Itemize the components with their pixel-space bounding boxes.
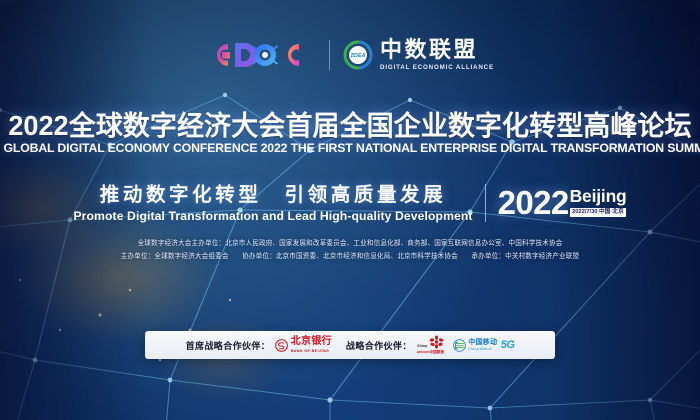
five-g-badge: 5G (501, 340, 515, 351)
main-title-chinese: 2022全球数字经济大会首届全国企业数字化转型高峰论坛 (5, 103, 695, 143)
credit-line-organizers: 主办单位：全球数字经济大会组委会 协办单位：北京市国资委、北京市经济和信息化局、… (0, 251, 700, 264)
strategic-partner-label: 战略合作伙伴： (346, 339, 412, 352)
alliance-text-block: 中数联盟 DIGITAL ECONOMIC ALLIANCE (380, 39, 494, 71)
slogan-text-block: 推动数字化转型 引领高质量发展 Promote Digital Transfor… (73, 183, 472, 222)
chief-partner-label: 首席战略合作伙伴： (186, 339, 271, 352)
zdea-circular-mark: ZDEA (343, 40, 373, 70)
strategic-partner-group: 战略合作伙伴： China (346, 335, 514, 355)
slogan-row: 推动数字化转型 引领高质量发展 Promote Digital Transfor… (0, 180, 700, 226)
organizer-credits: 全球数字经济大会主办单位：北京市人民政府、国家发展和改革委员会、工业和信息化部、… (0, 238, 700, 264)
china-unicom-icon (429, 335, 444, 349)
strategic-partner-logos: China (417, 335, 515, 355)
partner-bar: 首席战略合作伙伴： 北京银行 BANK OF BEIJING 战略合作伙伴： (145, 331, 555, 359)
city-date-block: Beijing 2022/7/30 中国·北京 (570, 188, 627, 218)
alliance-name-cn: 中数联盟 (380, 39, 478, 62)
cdec-logo (206, 37, 316, 73)
alliance-name-en: DIGITAL ECONOMIC ALLIANCE (380, 64, 494, 71)
china-mobile-cn: 中国移动 (468, 339, 497, 346)
bank-of-beijing-cn: 北京银行 (291, 337, 332, 347)
logo-divider (329, 40, 330, 70)
china-unicom-cn: unicom中国联通 (417, 350, 444, 355)
conference-banner: ZDEA 中数联盟 DIGITAL ECONOMIC ALLIANCE 2022… (0, 0, 700, 420)
china-mobile-text: 中国移动 China Mobile (468, 339, 497, 351)
bank-of-beijing-icon (275, 339, 288, 352)
chief-partner-logos: 北京银行 BANK OF BEIJING (275, 337, 332, 352)
china-mobile-icon (453, 339, 466, 352)
china-mobile-en: China Mobile (468, 347, 492, 351)
china-unicom-en: China (417, 345, 427, 349)
slogan-divider (485, 184, 486, 222)
china-unicom-mark-row: China (417, 335, 443, 349)
year-city-block: 2022 Beijing 2022/7/30 中国·北京 (498, 188, 627, 219)
date-location-chip: 2022/7/30 中国·北京 (570, 208, 627, 218)
bank-of-beijing-logo[interactable]: 北京银行 BANK OF BEIJING (275, 337, 332, 352)
china-unicom-logo[interactable]: China (417, 335, 444, 355)
chief-partner-group: 首席战略合作伙伴： 北京银行 BANK OF BEIJING (186, 337, 332, 352)
bank-of-beijing-text: 北京银行 BANK OF BEIJING (291, 337, 332, 352)
credit-line-hosts: 全球数字经济大会主办单位：北京市人民政府、国家发展和改革委员会、工业和信息化部、… (0, 238, 700, 251)
slogan-english: Promote Digital Transformation and Lead … (73, 209, 472, 223)
year-number: 2022 (498, 188, 569, 219)
zdea-mark-text: ZDEA (350, 53, 366, 59)
alliance-logo: ZDEA 中数联盟 DIGITAL ECONOMIC ALLIANCE (343, 39, 494, 71)
main-title-english: GLOBAL DIGITAL ECONOMY CONFERENCE 2022 T… (4, 141, 697, 155)
city-name: Beijing (570, 188, 627, 206)
bank-of-beijing-en: BANK OF BEIJING (291, 349, 330, 353)
china-mobile-logo[interactable]: 中国移动 China Mobile 5G (453, 339, 515, 352)
slogan-chinese: 推动数字化转型 引领高质量发展 (100, 183, 447, 207)
logo-row: ZDEA 中数联盟 DIGITAL ECONOMIC ALLIANCE (0, 30, 700, 80)
